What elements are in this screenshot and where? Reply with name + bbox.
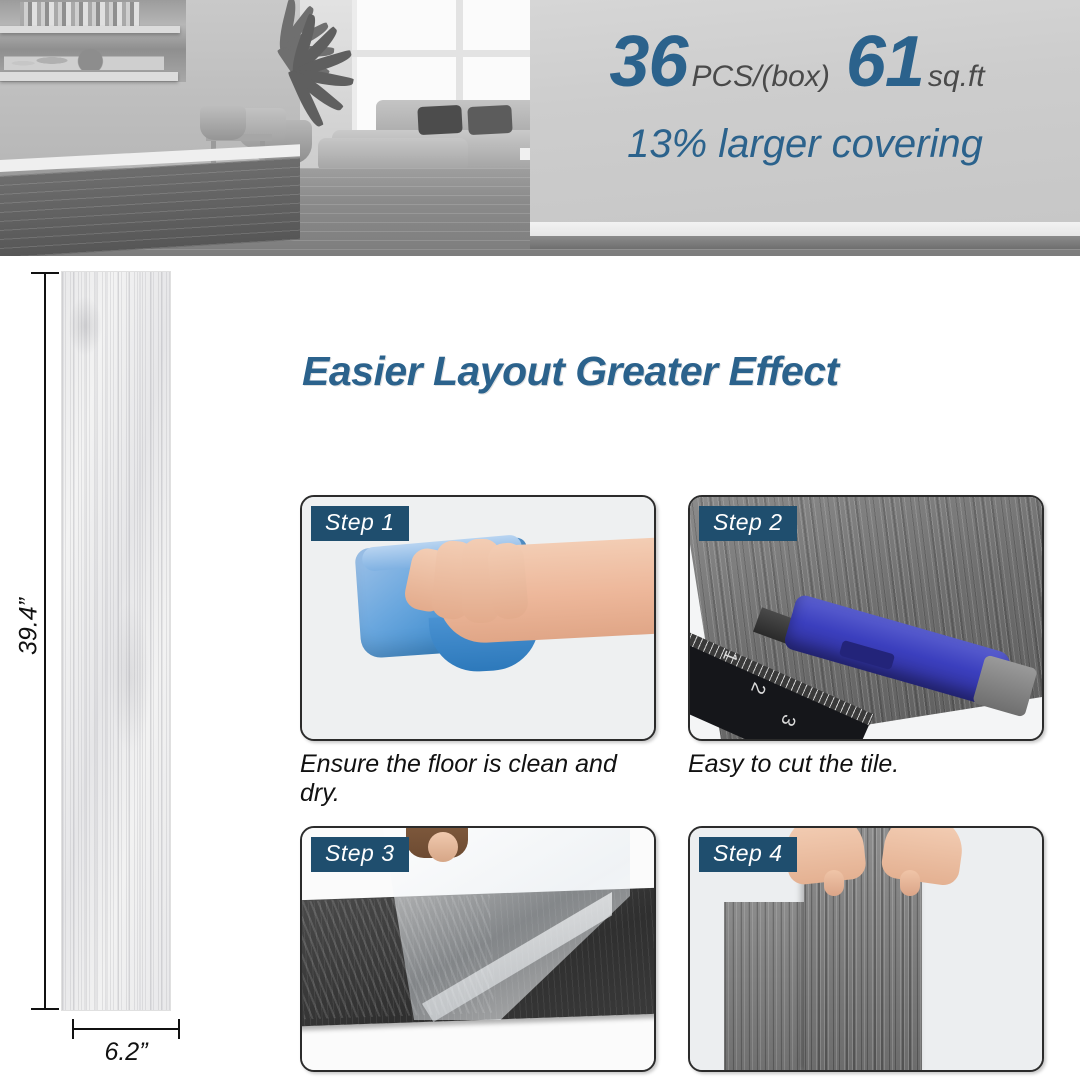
height-dimension-cap-bottom [31, 1008, 59, 1010]
throw-pillow [417, 105, 462, 135]
banner-baseboard [530, 222, 1080, 236]
step-2-badge: Step 2 [699, 506, 797, 541]
pieces-unit: PCS/(box) [691, 60, 829, 94]
step-item-3: Step 3 Peel off the backing. [300, 826, 652, 1080]
width-dimension-cap-right [178, 1019, 180, 1039]
shelf-decor-objects [4, 36, 164, 70]
throw-pillow [467, 105, 512, 135]
width-dimension-cap-left [72, 1019, 74, 1039]
banner-floor-shadow [530, 236, 1080, 249]
height-dimension-label: 39.4” [15, 582, 44, 672]
step-3-image-card: Step 3 [300, 826, 656, 1072]
product-plank-sample [62, 272, 170, 1010]
steps-row-top: Step 1 Ensure the floor is clean and dry… [300, 495, 1042, 808]
height-dimension-cap-top [31, 272, 59, 274]
width-dimension-label: 6.2” [62, 1038, 190, 1067]
spec-banner: 36 PCS/(box) 61 sq.ft 13% larger coverin… [530, 0, 1080, 222]
width-dimension-line [72, 1028, 180, 1030]
shelf-board-upper [0, 26, 180, 33]
area-count: 61 [846, 26, 924, 98]
page-title: Easier Layout Greater Effect [302, 348, 1042, 395]
coverage-note: 13% larger covering [530, 122, 1080, 167]
step-item-1: Step 1 Ensure the floor is clean and dry… [300, 495, 652, 808]
hand-right [880, 826, 966, 887]
height-dimension-line [44, 272, 46, 1010]
step-4-badge: Step 4 [699, 837, 797, 872]
step-2-caption: Easy to cut the tile. [688, 750, 1040, 779]
pieces-count: 36 [609, 26, 687, 98]
step-item-2: 1 2 3 Step 2 Easy to cut the tile. [688, 495, 1040, 808]
shelf-board-lower [0, 72, 178, 81]
step-3-badge: Step 3 [311, 837, 409, 872]
step-1-caption: Ensure the floor is clean and dry. [300, 750, 652, 808]
spec-banner-figures: 36 PCS/(box) 61 sq.ft [530, 26, 1080, 112]
infographic-root: 36 PCS/(box) 61 sq.ft 13% larger coverin… [0, 0, 1080, 1080]
steps-grid: Step 1 Ensure the floor is clean and dry… [300, 495, 1042, 1080]
floor-dark-area [0, 158, 300, 256]
step-2-image-card: 1 2 3 Step 2 [688, 495, 1044, 741]
step-item-4: Step 4 Lay the tile on the floor. [688, 826, 1040, 1080]
step-1-image-card: Step 1 [300, 495, 656, 741]
steps-row-bottom: Step 3 Peel off the backing. Step 4 Lay … [300, 826, 1042, 1080]
step-1-badge: Step 1 [311, 506, 409, 541]
hero-room-photo: 36 PCS/(box) 61 sq.ft 13% larger coverin… [0, 0, 1080, 256]
area-unit: sq.ft [928, 60, 985, 94]
books [20, 2, 140, 26]
step-4-image-card: Step 4 [688, 826, 1044, 1072]
planter-small [200, 106, 246, 140]
